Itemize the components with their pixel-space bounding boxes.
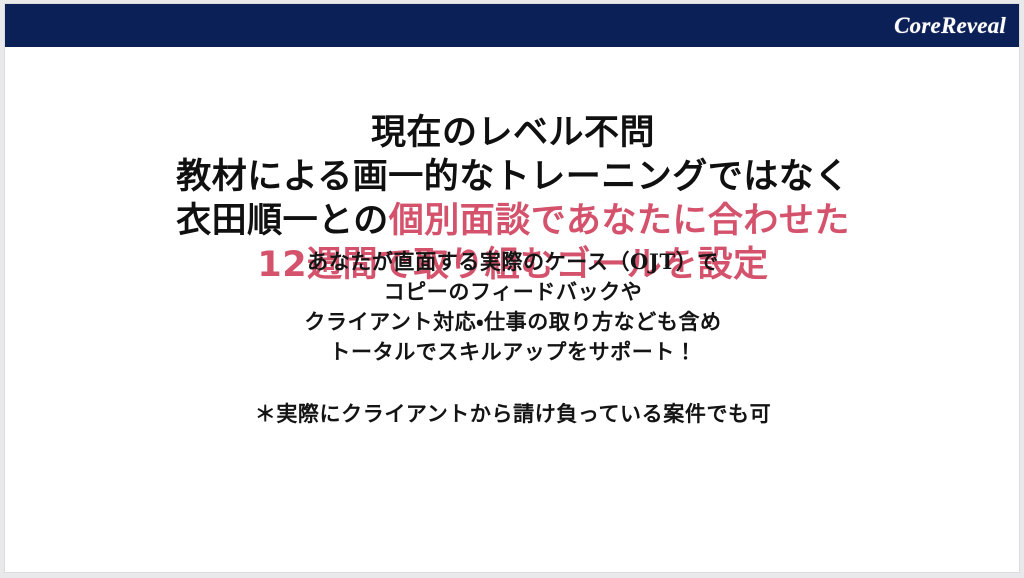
footnote-block: ＊実際にクライアントから請け負っている案件でも可: [5, 399, 1020, 429]
headline-line-1: 現在のレベル不問: [5, 111, 1020, 155]
header-bar: CoreReveal: [4, 3, 1020, 47]
headline-line-2: 教材による画一的なトレーニングではなく: [5, 155, 1020, 199]
slide-root: CoreReveal 現在のレベル不問 教材による画一的なトレーニングではなく …: [0, 0, 1024, 578]
footnote-text: ＊実際にクライアントから請け負っている案件でも可: [5, 399, 1020, 429]
headline-line-3-accent: 個別面談であなたに合わせた: [389, 201, 850, 241]
corereveal-logo: CoreReveal: [894, 14, 1006, 37]
body-line-1: あなたが直面する実際のケース（OJT）で: [5, 247, 1020, 277]
body-line-4: トータルでスキルアップをサポート！: [5, 337, 1020, 367]
headline-line-3: 衣田順一との個別面談であなたに合わせた: [5, 199, 1020, 243]
body-block: あなたが直面する実際のケース（OJT）で コピーのフィードバックや クライアント…: [5, 247, 1020, 367]
slide-surface: CoreReveal 現在のレベル不問 教材による画一的なトレーニングではなく …: [4, 3, 1020, 573]
body-line-2: コピーのフィードバックや: [5, 277, 1020, 307]
body-line-3: クライアント対応・仕事の取り方なども含め: [5, 307, 1020, 337]
headline-line-3-black: 衣田順一との: [176, 201, 389, 241]
slide-content: 現在のレベル不問 教材による画一的なトレーニングではなく 衣田順一との個別面談で…: [5, 48, 1020, 573]
